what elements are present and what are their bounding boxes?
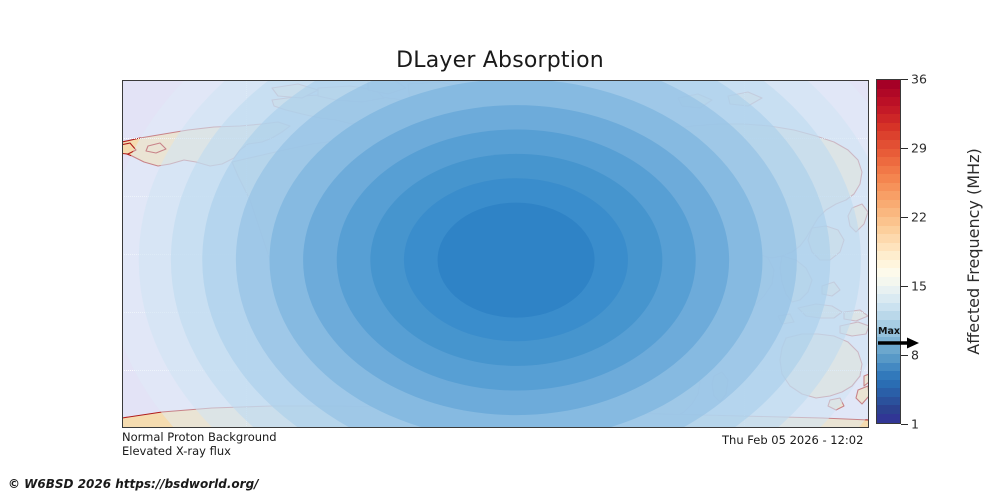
colorbar-tick-label: 8 (911, 348, 919, 363)
colorbar-swatch (877, 183, 900, 192)
colorbar-tick-label: 29 (911, 141, 927, 156)
colorbar-swatch (877, 251, 900, 260)
colorbar-swatch (877, 414, 900, 423)
colorbar-swatch (877, 106, 900, 115)
timestamp: Thu Feb 05 2026 - 12:02 (722, 433, 863, 447)
colorbar-swatch (877, 226, 900, 235)
colorbar-tick-mark (901, 79, 908, 80)
colorbar-swatch (877, 200, 900, 209)
colorbar-swatch (877, 303, 900, 312)
colorbar-swatch (877, 286, 900, 295)
colorbar-tick-label: 22 (911, 210, 927, 225)
colorbar-tick-mark (901, 148, 908, 149)
colorbar-swatch (877, 217, 900, 226)
map-land-layer (122, 80, 869, 428)
colorbar-swatch (877, 311, 900, 320)
colorbar-swatch (877, 337, 900, 346)
colorbar-swatch (877, 405, 900, 414)
colorbar-swatch (877, 371, 900, 380)
colorbar-swatch (877, 294, 900, 303)
colorbar-swatch (877, 149, 900, 158)
coastline-svg (122, 80, 869, 428)
colorbar-swatch (877, 123, 900, 132)
page-title: DLayer Absorption (0, 48, 1000, 73)
colorbar-swatch (877, 380, 900, 389)
colorbar-swatch (877, 268, 900, 277)
colorbar-swatch (877, 243, 900, 252)
colorbar-swatch (877, 260, 900, 269)
colorbar-tick-mark (901, 424, 908, 425)
copyright: © W6BSD 2026 https://bsdworld.org/ (8, 477, 259, 491)
world-map-axes[interactable] (122, 80, 869, 428)
colorbar-tick-label: 1 (911, 417, 919, 432)
colorbar-ticks: 3629221581 (901, 79, 961, 424)
colorbar-tick-mark (901, 286, 908, 287)
colorbar-swatch (877, 114, 900, 123)
colorbar-tick-mark (901, 355, 908, 356)
colorbar-swatch (877, 97, 900, 106)
colorbar-swatch (877, 131, 900, 140)
colorbar[interactable] (876, 79, 901, 424)
colorbar-swatch (877, 157, 900, 166)
colorbar-swatch (877, 363, 900, 372)
colorbar-swatch (877, 345, 900, 354)
colorbar-swatch (877, 174, 900, 183)
colorbar-swatch (877, 234, 900, 243)
colorbar-tick-label: 36 (911, 72, 927, 87)
colorbar-swatch (877, 208, 900, 217)
figure-root: DLayer Absorption (0, 0, 1000, 500)
colorbar-swatch (877, 354, 900, 363)
colorbar-swatch (877, 140, 900, 149)
colorbar-swatch (877, 89, 900, 98)
colorbar-swatch (877, 166, 900, 175)
colorbar-swatch (877, 320, 900, 329)
status-line-2: Elevated X-ray flux (122, 444, 231, 458)
status-line-1: Normal Proton Background (122, 430, 277, 444)
colorbar-swatch (877, 80, 900, 89)
colorbar-tick-label: 15 (911, 279, 927, 294)
colorbar-label: Affected Frequency (MHz) (961, 79, 987, 424)
colorbar-tick-mark (901, 217, 908, 218)
colorbar-swatch (877, 191, 900, 200)
colorbar-swatch (877, 328, 900, 337)
colorbar-swatch (877, 397, 900, 406)
colorbar-swatch (877, 277, 900, 286)
colorbar-swatch (877, 388, 900, 397)
